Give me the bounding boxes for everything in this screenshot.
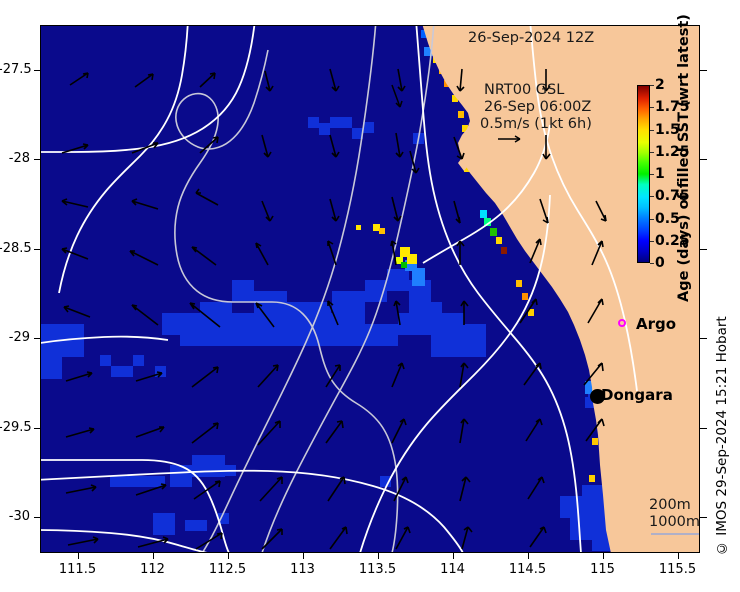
y-axis-tick <box>34 70 40 71</box>
velocity-scale-arrow-icon <box>498 134 524 144</box>
colorbar-tick-label: 1 <box>655 167 665 181</box>
colorbar-tick <box>650 219 654 220</box>
legend-argo-label: Argo <box>636 315 676 333</box>
x-axis-tick <box>78 553 79 559</box>
x-axis-label: 114 <box>423 562 483 577</box>
y-axis-label: -28.5 <box>0 241 30 256</box>
x-axis-tick <box>153 553 154 559</box>
x-axis-tick <box>303 553 304 559</box>
x-axis-label: 112 <box>123 562 183 577</box>
dongara-place-label: Dongara <box>601 386 673 404</box>
map-canvas <box>40 25 700 553</box>
colorbar-tick <box>650 107 654 108</box>
colorbar-tick <box>650 130 654 131</box>
colorbar-tick-label: 0.5 <box>655 212 680 226</box>
colorbar-title: Age (days) of filled SST (wrt latest) <box>676 22 698 302</box>
x-axis-label: 113.5 <box>348 562 408 577</box>
x-axis-label: 113 <box>273 562 333 577</box>
x-axis-label: 114.5 <box>498 562 558 577</box>
y-axis-tick <box>34 517 40 518</box>
colorbar-tick-label: 0.75 <box>655 189 690 203</box>
colorbar-tick-label: 0.25 <box>655 234 690 248</box>
y-axis-tick <box>34 428 40 429</box>
y-axis-tick-right <box>700 249 707 250</box>
velocity-scale-annotation: 0.5m/s (1kt 6h) <box>480 116 592 132</box>
colorbar-tick-label: 0 <box>655 256 665 270</box>
map-plot-area <box>40 25 700 553</box>
colorbar-tick <box>650 152 654 153</box>
scalebar-200m-label: 200m <box>649 497 700 514</box>
colorbar-tick-label: 1.5 <box>655 123 680 137</box>
x-axis-tick <box>678 553 679 559</box>
product-name-annotation: NRT00 GSL <box>484 82 564 98</box>
x-axis-label: 112.5 <box>198 562 258 577</box>
y-axis-label: -29.5 <box>0 420 30 435</box>
colorbar-tick-label: 1.75 <box>655 100 690 114</box>
colorbar-tick <box>650 85 654 86</box>
scalebar-line <box>651 533 699 535</box>
y-axis-tick <box>34 338 40 339</box>
colorbar-tick-label: 1.25 <box>655 145 690 159</box>
colorbar-gradient <box>637 85 650 263</box>
colorbar-tick <box>650 263 654 264</box>
datetime-annotation: 26-Sep-2024 12Z <box>468 30 594 46</box>
colorbar-tick-label: 2 <box>655 78 665 92</box>
y-axis-label: -30 <box>0 509 30 524</box>
x-axis-label: 115.5 <box>648 562 708 577</box>
colorbar-tick <box>650 196 654 197</box>
y-axis-tick-right <box>700 159 707 160</box>
y-axis-label: -29 <box>0 330 30 345</box>
y-axis-tick-right <box>700 338 707 339</box>
x-axis-tick <box>528 553 529 559</box>
depth-scalebar: 200m 1000m <box>649 497 700 531</box>
scalebar-1000m-label: 1000m <box>649 514 700 531</box>
x-axis-label: 111.5 <box>48 562 108 577</box>
argo-marker-icon <box>618 319 626 327</box>
y-axis-label: -28 <box>0 151 30 166</box>
x-axis-label: 115 <box>573 562 633 577</box>
y-axis-label: -27.5 <box>0 62 30 77</box>
x-axis-tick <box>603 553 604 559</box>
x-axis-tick <box>378 553 379 559</box>
x-axis-tick <box>228 553 229 559</box>
colorbar-tick <box>650 174 654 175</box>
colorbar-tick <box>650 241 654 242</box>
y-axis-tick <box>34 159 40 160</box>
y-axis-tick <box>34 249 40 250</box>
copyright-credit: © IMOS 29-Sep-2024 15:21 Hobart <box>714 286 734 556</box>
y-axis-tick-right <box>700 517 707 518</box>
y-axis-tick-right <box>700 70 707 71</box>
y-axis-tick-right <box>700 428 707 429</box>
x-axis-tick <box>453 553 454 559</box>
product-time-annotation: 26-Sep 06:00Z <box>484 99 591 115</box>
